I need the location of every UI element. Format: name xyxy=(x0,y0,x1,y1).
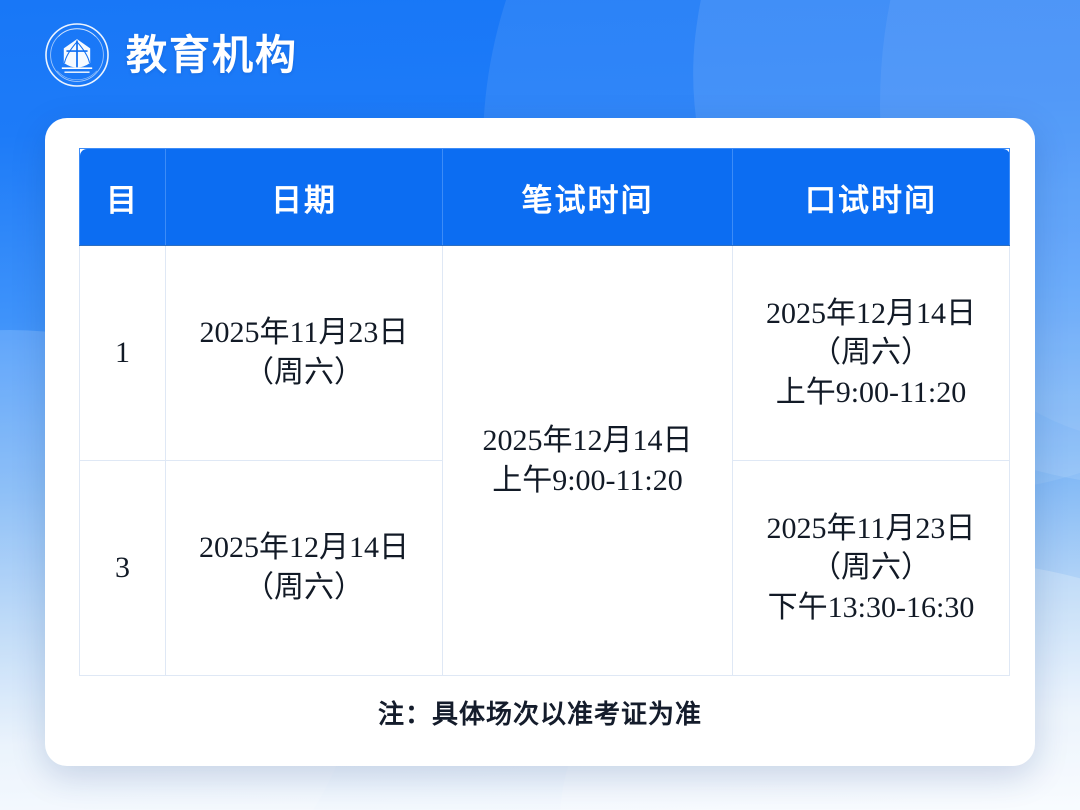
cell-oral-weekday: （周六） xyxy=(739,333,1003,373)
cell-date-line: 2025年12月14日 xyxy=(172,528,436,568)
cell-written-exam-merged: 2025年12月14日 上午9:00-11:20 xyxy=(443,246,733,676)
table-body: 1 2025年11月23日 （周六） 2025年12月14日 上午9:00-11… xyxy=(80,246,1010,676)
cell-index: 1 xyxy=(80,246,166,461)
exam-schedule-table: 目 日期 笔试时间 口试时间 1 2025年11月23日 （周六） 2025年1… xyxy=(79,148,1010,676)
column-header-date: 日期 xyxy=(166,149,443,246)
school-emblem-icon xyxy=(44,22,110,88)
cell-date: 2025年12月14日 （周六） xyxy=(166,461,443,676)
cell-date-line: 2025年11月23日 xyxy=(172,313,436,353)
cell-index: 3 xyxy=(80,461,166,676)
schedule-card: 目 日期 笔试时间 口试时间 1 2025年11月23日 （周六） 2025年1… xyxy=(45,118,1035,766)
cell-date-weekday: （周六） xyxy=(172,353,436,393)
cell-oral-weekday: （周六） xyxy=(739,548,1003,588)
table-header-row: 目 日期 笔试时间 口试时间 xyxy=(80,149,1010,246)
cell-oral-time: 上午9:00-11:20 xyxy=(739,373,1003,413)
cell-date-weekday: （周六） xyxy=(172,568,436,608)
cell-written-time: 上午9:00-11:20 xyxy=(449,461,726,501)
page-title: 教育机构 xyxy=(126,35,298,76)
cell-oral-exam: 2025年11月23日 （周六） 下午13:30-16:30 xyxy=(733,461,1010,676)
column-header-written: 笔试时间 xyxy=(443,149,733,246)
cell-oral-exam: 2025年12月14日 （周六） 上午9:00-11:20 xyxy=(733,246,1010,461)
cell-oral-time: 下午13:30-16:30 xyxy=(739,588,1003,628)
column-header-oral: 口试时间 xyxy=(733,149,1010,246)
cell-oral-date: 2025年11月23日 xyxy=(739,509,1003,549)
table-row: 1 2025年11月23日 （周六） 2025年12月14日 上午9:00-11… xyxy=(80,246,1010,461)
page-header: 教育机构 xyxy=(44,22,298,88)
cell-oral-date: 2025年12月14日 xyxy=(739,294,1003,334)
footer-note: 注：具体场次以准考证为准 xyxy=(79,694,1001,731)
table-header: 目 日期 笔试时间 口试时间 xyxy=(80,149,1010,246)
column-header-index: 目 xyxy=(80,149,166,246)
cell-written-date: 2025年12月14日 xyxy=(449,421,726,461)
page-root: 教育机构 目 日期 笔试时间 口试时间 1 xyxy=(0,0,1080,810)
cell-date: 2025年11月23日 （周六） xyxy=(166,246,443,461)
